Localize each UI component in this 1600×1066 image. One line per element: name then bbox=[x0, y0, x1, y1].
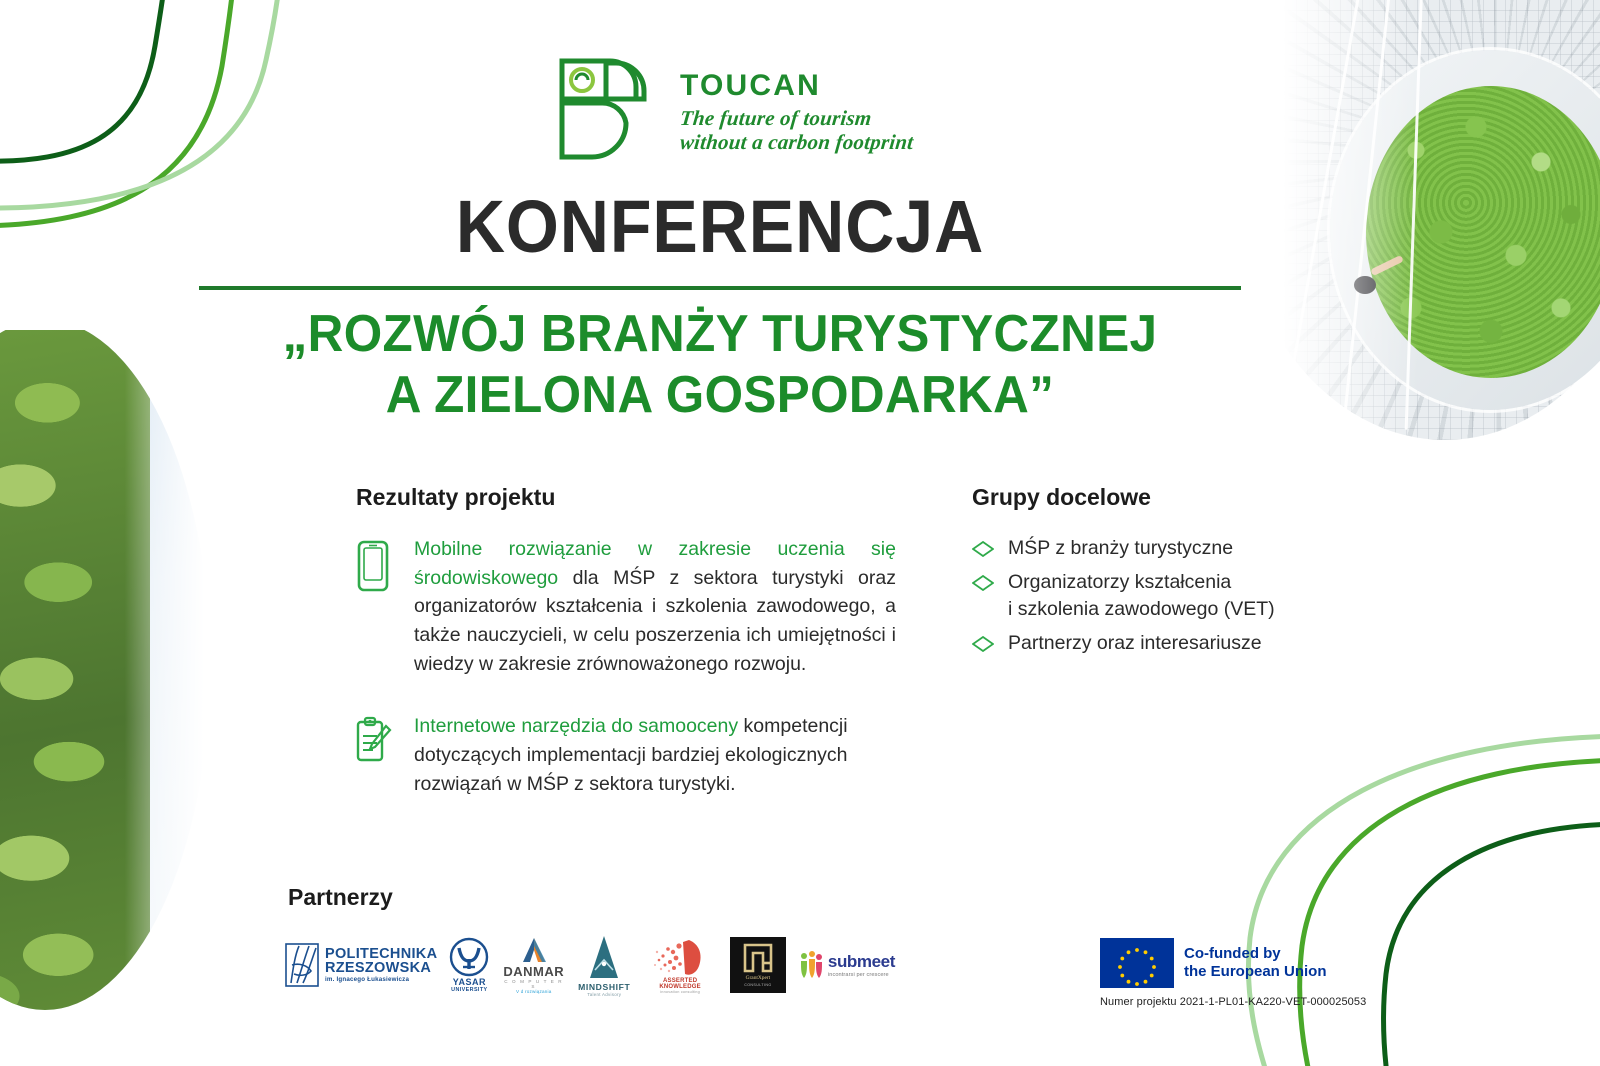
eu-funding-badge: Co-funded by the European Union Numer pr… bbox=[1100, 938, 1366, 1008]
group-item-text: Partnerzy oraz interesariusze bbox=[1008, 630, 1262, 658]
partner-name-line3: V d rozwiązania bbox=[516, 989, 551, 994]
eu-flag-icon bbox=[1100, 938, 1174, 988]
partner-name-line2: C O M P U T E R S bbox=[501, 979, 566, 989]
diamond-bullet-icon bbox=[972, 535, 994, 562]
list-item: MŚP z branży turystyczne bbox=[972, 535, 1292, 563]
partner-name-line2: UNIVERSITY bbox=[451, 987, 487, 993]
results-heading: Rezultaty projektu bbox=[356, 484, 896, 511]
partner-name-line1: DANMAR bbox=[503, 964, 564, 979]
partner-logo-grantxpert: GrantXpert CONSULTING bbox=[730, 937, 786, 993]
partner-name-line1: MINDSHIFT bbox=[578, 982, 630, 992]
partner-name-line1: GrantXpert bbox=[746, 975, 771, 981]
logo-tagline-line2: without a carbon footprint bbox=[679, 131, 915, 155]
result-item: Mobilne rozwiązanie w zakresie uczenia s… bbox=[356, 535, 896, 678]
partner-name-line3: im. Ignacego Łukasiewicza bbox=[325, 977, 437, 983]
eu-funding-line1: Co-funded by bbox=[1184, 945, 1327, 963]
decorative-swoosh-bottom-right bbox=[1190, 706, 1600, 1066]
group-item-text: Organizatorzy kształcenia bbox=[1008, 569, 1275, 597]
project-number: Numer projektu 2021-1-PL01-KA220-VET-000… bbox=[1100, 996, 1366, 1008]
mobile-phone-icon bbox=[356, 535, 394, 678]
target-groups-section: Grupy docelowe MŚP z branży turystyczne … bbox=[972, 484, 1292, 664]
submeet-mark-icon bbox=[798, 950, 824, 980]
project-results-section: Rezultaty projektu Mobilne rozwiązanie w… bbox=[356, 484, 896, 824]
toucan-logo: TOUCAN The future of tourism without a c… bbox=[548, 46, 968, 172]
list-item: Organizatorzy kształcenia i szkolenia za… bbox=[972, 569, 1292, 624]
partner-logos-strip: POLITECHNIKA RZESZOWSKA im. Ignacego Łuk… bbox=[285, 925, 895, 1005]
partner-logo-asserted-knowledge: ASSERTED KNOWLEDGE innovation consulting bbox=[642, 936, 718, 994]
partner-name-line2: innovation consulting bbox=[660, 990, 700, 994]
eu-funding-line2: the European Union bbox=[1184, 963, 1327, 981]
toucan-bird-icon bbox=[548, 53, 666, 165]
grantxpert-mark-icon bbox=[743, 943, 773, 973]
danmar-mark-icon bbox=[511, 936, 557, 964]
politechnika-mark-icon bbox=[285, 943, 319, 987]
partner-name-line1: submeet bbox=[828, 952, 895, 972]
logo-tagline-line1: The future of tourism bbox=[679, 107, 915, 131]
diamond-bullet-icon bbox=[972, 630, 994, 657]
result-item-text: Internetowe narzędzia do samooceny kompe… bbox=[414, 712, 896, 798]
logo-wordmark: TOUCAN bbox=[680, 69, 913, 103]
diamond-bullet-icon bbox=[972, 569, 994, 596]
group-item-text: MŚP z branży turystyczne bbox=[1008, 535, 1233, 563]
partner-logo-politechnika-rzeszowska: POLITECHNIKA RZESZOWSKA im. Ignacego Łuk… bbox=[285, 943, 437, 987]
partner-name-line1: POLITECHNIKA bbox=[325, 947, 437, 962]
result-highlight: Internetowe narzędzia do samooceny bbox=[414, 715, 738, 737]
conference-subtitle-line1: „ROZWÓJ BRANŻY TURYSTYCZNEJ bbox=[36, 304, 1404, 365]
partner-logo-mindshift: MINDSHIFT Talent Advisory bbox=[578, 934, 630, 997]
result-item: Internetowe narzędzia do samooceny kompe… bbox=[356, 712, 896, 798]
partner-name-line1: ASSERTED KNOWLEDGE bbox=[642, 978, 718, 990]
headline-divider bbox=[199, 286, 1241, 290]
partner-logo-submeet: submeet incontrarsi per crescere bbox=[798, 950, 895, 980]
partner-name-line2: Talent Advisory bbox=[587, 992, 621, 997]
partner-logo-yasar-university: YASAR UNIVERSITY bbox=[449, 937, 489, 993]
group-item-text-cont: i szkolenia zawodowego (VET) bbox=[1008, 596, 1275, 624]
partner-name-line2: CONSULTING bbox=[744, 983, 771, 987]
list-item: Partnerzy oraz interesariusze bbox=[972, 630, 1292, 658]
conference-poster: TOUCAN The future of tourism without a c… bbox=[0, 0, 1600, 1066]
yasar-mark-icon bbox=[449, 937, 489, 977]
mindshift-mark-icon bbox=[585, 934, 623, 982]
clipboard-pencil-icon bbox=[356, 712, 394, 798]
partner-name-line2: RZESZOWSKA bbox=[325, 961, 437, 976]
result-item-text: Mobilne rozwiązanie w zakresie uczenia s… bbox=[414, 535, 896, 678]
partner-logo-danmar-computers: DANMAR C O M P U T E R S V d rozwiązania bbox=[501, 936, 566, 994]
headline-block: KONFERENCJA „ROZWÓJ BRANŻY TURYSTYCZNEJ … bbox=[0, 190, 1440, 426]
page-title: KONFERENCJA bbox=[58, 190, 1383, 264]
partner-name-line1: YASAR bbox=[453, 977, 486, 987]
groups-heading: Grupy docelowe bbox=[972, 484, 1292, 511]
asserted-knowledge-mark-icon bbox=[649, 936, 711, 978]
conference-subtitle-line2: A ZIELONA GOSPODARKA” bbox=[36, 365, 1404, 426]
green-living-wall-photo bbox=[0, 330, 215, 1030]
partner-name-line2: incontrarsi per crescere bbox=[828, 972, 895, 978]
partners-heading: Partnerzy bbox=[288, 884, 393, 911]
